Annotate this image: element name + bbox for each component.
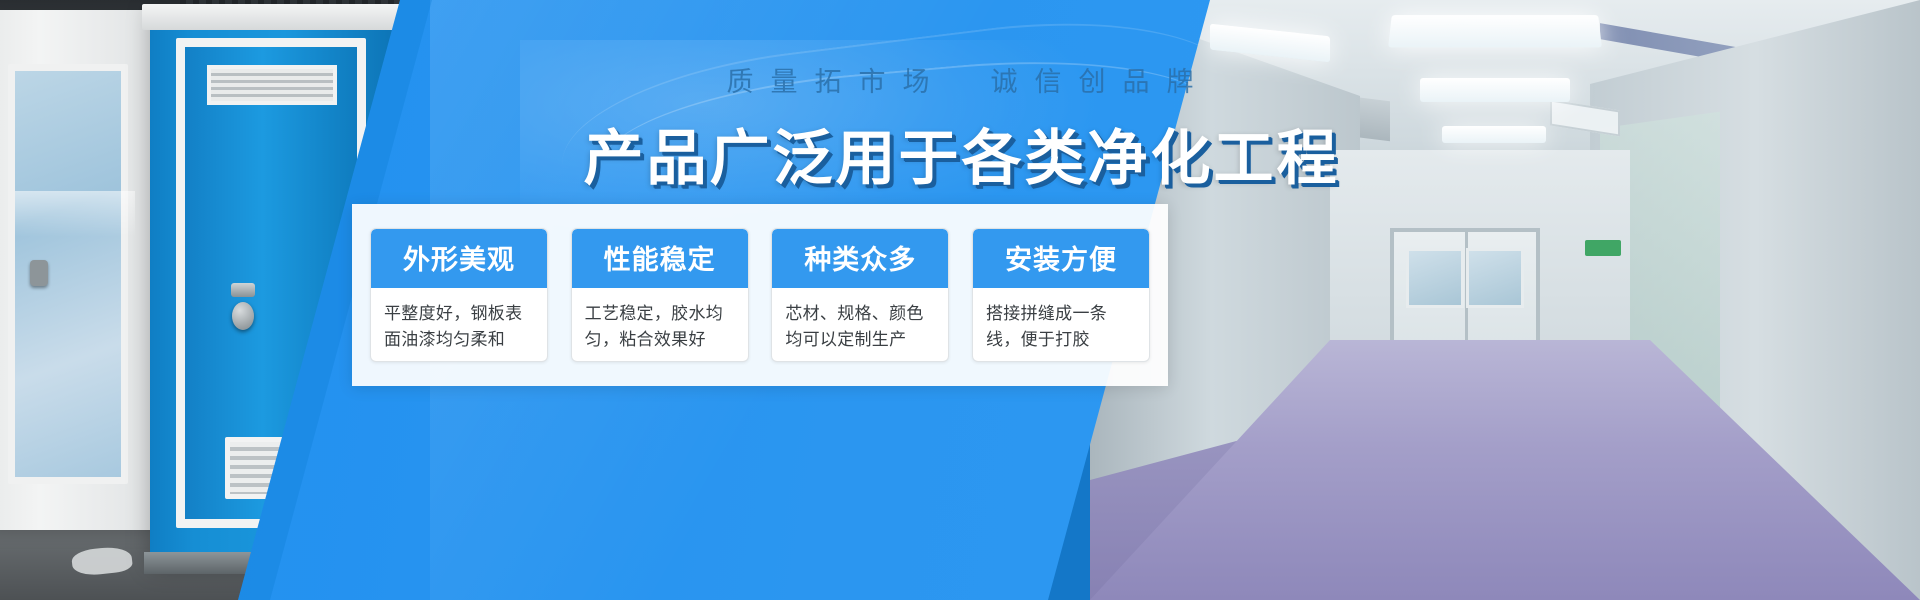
door-lockplate	[231, 283, 255, 297]
feature-card-4[interactable]: 安装方便 搭接拼缝成一条线，便于打胶	[972, 228, 1150, 362]
right-cleanroom-photo	[1090, 0, 1920, 600]
feature-card-4-body: 搭接拼缝成一条线，便于打胶	[973, 288, 1149, 362]
feature-card-3[interactable]: 种类众多 芯材、规格、颜色均可以定制生产	[771, 228, 949, 362]
ceiling-lamp	[1388, 15, 1602, 47]
promo-banner: 质量拓市场 诚信创品牌 产品广泛用于各类净化工程 外形美观 平整度好，钢板表面油…	[0, 0, 1920, 600]
feature-card-3-body: 芯材、规格、颜色均可以定制生产	[772, 288, 948, 362]
door-top-vent	[207, 65, 337, 105]
cabin-roof	[142, 4, 404, 30]
feature-card-2-body: 工艺稳定，胶水均匀，粘合效果好	[572, 288, 748, 362]
feature-cards-row: 外形美观 平整度好，钢板表面油漆均匀柔和 性能稳定 工艺稳定，胶水均匀，粘合效果…	[352, 204, 1168, 386]
door-knob	[232, 302, 254, 330]
feature-cards-panel: 外形美观 平整度好，钢板表面油漆均匀柔和 性能稳定 工艺稳定，胶水均匀，粘合效果…	[352, 204, 1168, 386]
ceiling-lamp	[1442, 126, 1546, 143]
feature-card-2[interactable]: 性能稳定 工艺稳定，胶水均匀，粘合效果好	[571, 228, 749, 362]
feature-card-4-title: 安装方便	[973, 229, 1149, 288]
feature-card-3-title: 种类众多	[772, 229, 948, 288]
exit-sign-icon	[1585, 240, 1621, 256]
glass-door-handle	[30, 260, 48, 286]
glass-panel	[8, 64, 128, 484]
feature-card-1-title: 外形美观	[371, 229, 547, 288]
glass-door-cabin	[0, 10, 166, 530]
feature-card-1[interactable]: 外形美观 平整度好，钢板表面油漆均匀柔和	[370, 228, 548, 362]
ceiling-lamp	[1420, 78, 1570, 102]
feature-card-1-body: 平整度好，钢板表面油漆均匀柔和	[371, 288, 547, 362]
feature-card-2-title: 性能稳定	[572, 229, 748, 288]
